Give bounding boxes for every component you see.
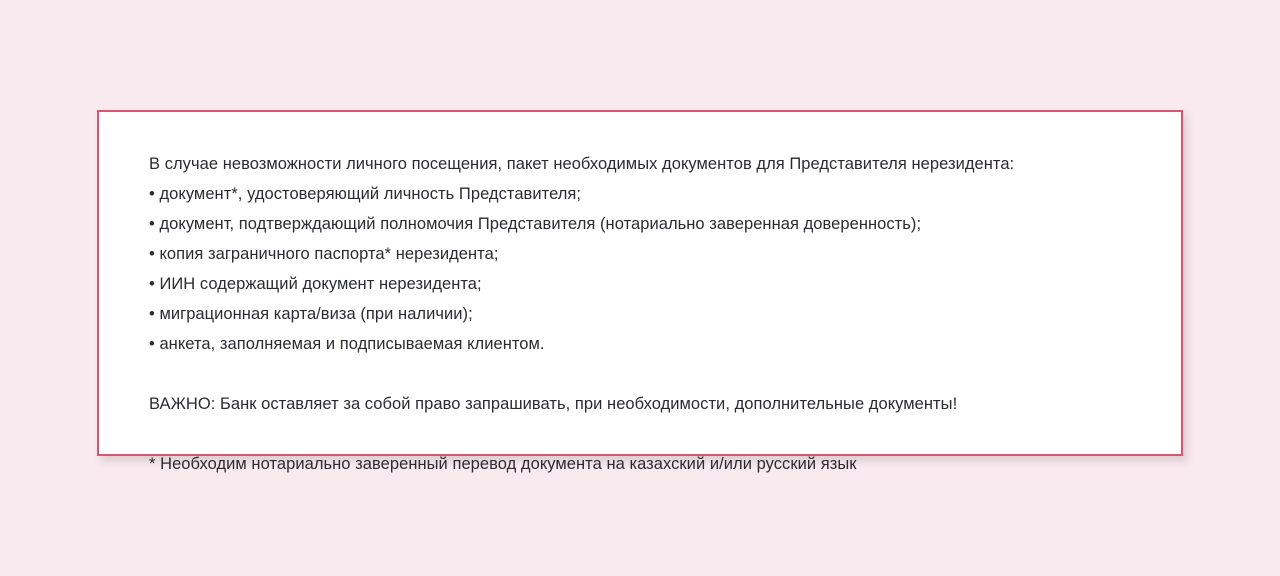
list-item: • ИИН содержащий документ нерезидента; — [149, 269, 1181, 299]
page-background: В случае невозможности личного посещения… — [0, 0, 1280, 576]
notice-body: В случае невозможности личного посещения… — [99, 112, 1181, 479]
notice-intro-text: В случае невозможности личного посещения… — [149, 149, 1181, 179]
list-item: • анкета, заполняемая и подписываемая кл… — [149, 329, 1181, 359]
footnote-text: * Необходим нотариально заверенный перев… — [149, 449, 1181, 479]
notice-card: В случае невозможности личного посещения… — [97, 110, 1183, 456]
list-item: • документ, подтверждающий полномочия Пр… — [149, 209, 1181, 239]
list-item: • копия заграничного паспорта* нерезиден… — [149, 239, 1181, 269]
list-item: • документ*, удостоверяющий личность Пре… — [149, 179, 1181, 209]
list-item: • миграционная карта/виза (при наличии); — [149, 299, 1181, 329]
important-note-text: ВАЖНО: Банк оставляет за собой право зап… — [149, 389, 1181, 419]
